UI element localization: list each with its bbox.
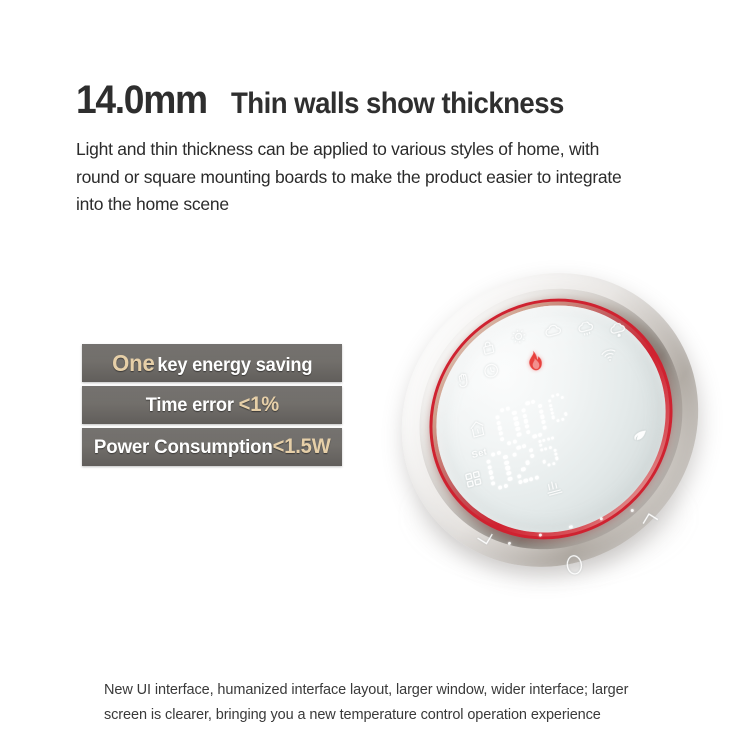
header-block: 14.0mm Thin walls show thickness Light a…	[76, 78, 676, 219]
thermostat-device: Set	[378, 246, 718, 596]
thickness-metric: 14.0mm	[76, 78, 207, 123]
feature-bar-label: key energy saving	[157, 355, 312, 376]
feature-bar-text: Power Consumption<1.5W	[94, 435, 331, 459]
feature-bar-power-consumption: Power Consumption<1.5W	[82, 428, 342, 466]
headline: 14.0mm Thin walls show thickness	[76, 78, 676, 123]
headline-tagline: Thin walls show thickness	[231, 87, 564, 121]
feature-bar-accent: <1%	[238, 393, 278, 416]
feature-bar-time-error: Time error <1%	[82, 386, 342, 424]
feature-bar-label: Power Consumption	[94, 436, 273, 458]
feature-bar-accent: <1.5W	[272, 435, 330, 458]
header-description: Light and thin thickness can be applied …	[76, 136, 636, 219]
feature-bar-accent: One	[112, 350, 154, 376]
feature-bar-text: Onekey energy saving	[112, 350, 312, 377]
feature-bar-text: Time error <1%	[145, 393, 278, 417]
product-feature-page: 14.0mm Thin walls show thickness Light a…	[0, 0, 750, 750]
feature-bar-list: Onekey energy saving Time error <1% Powe…	[82, 344, 342, 470]
feature-bar-label: Time error	[145, 395, 233, 416]
bottom-caption: New UI interface, humanized interface la…	[104, 678, 674, 728]
feature-bar-energy-saving: Onekey energy saving	[82, 344, 342, 382]
